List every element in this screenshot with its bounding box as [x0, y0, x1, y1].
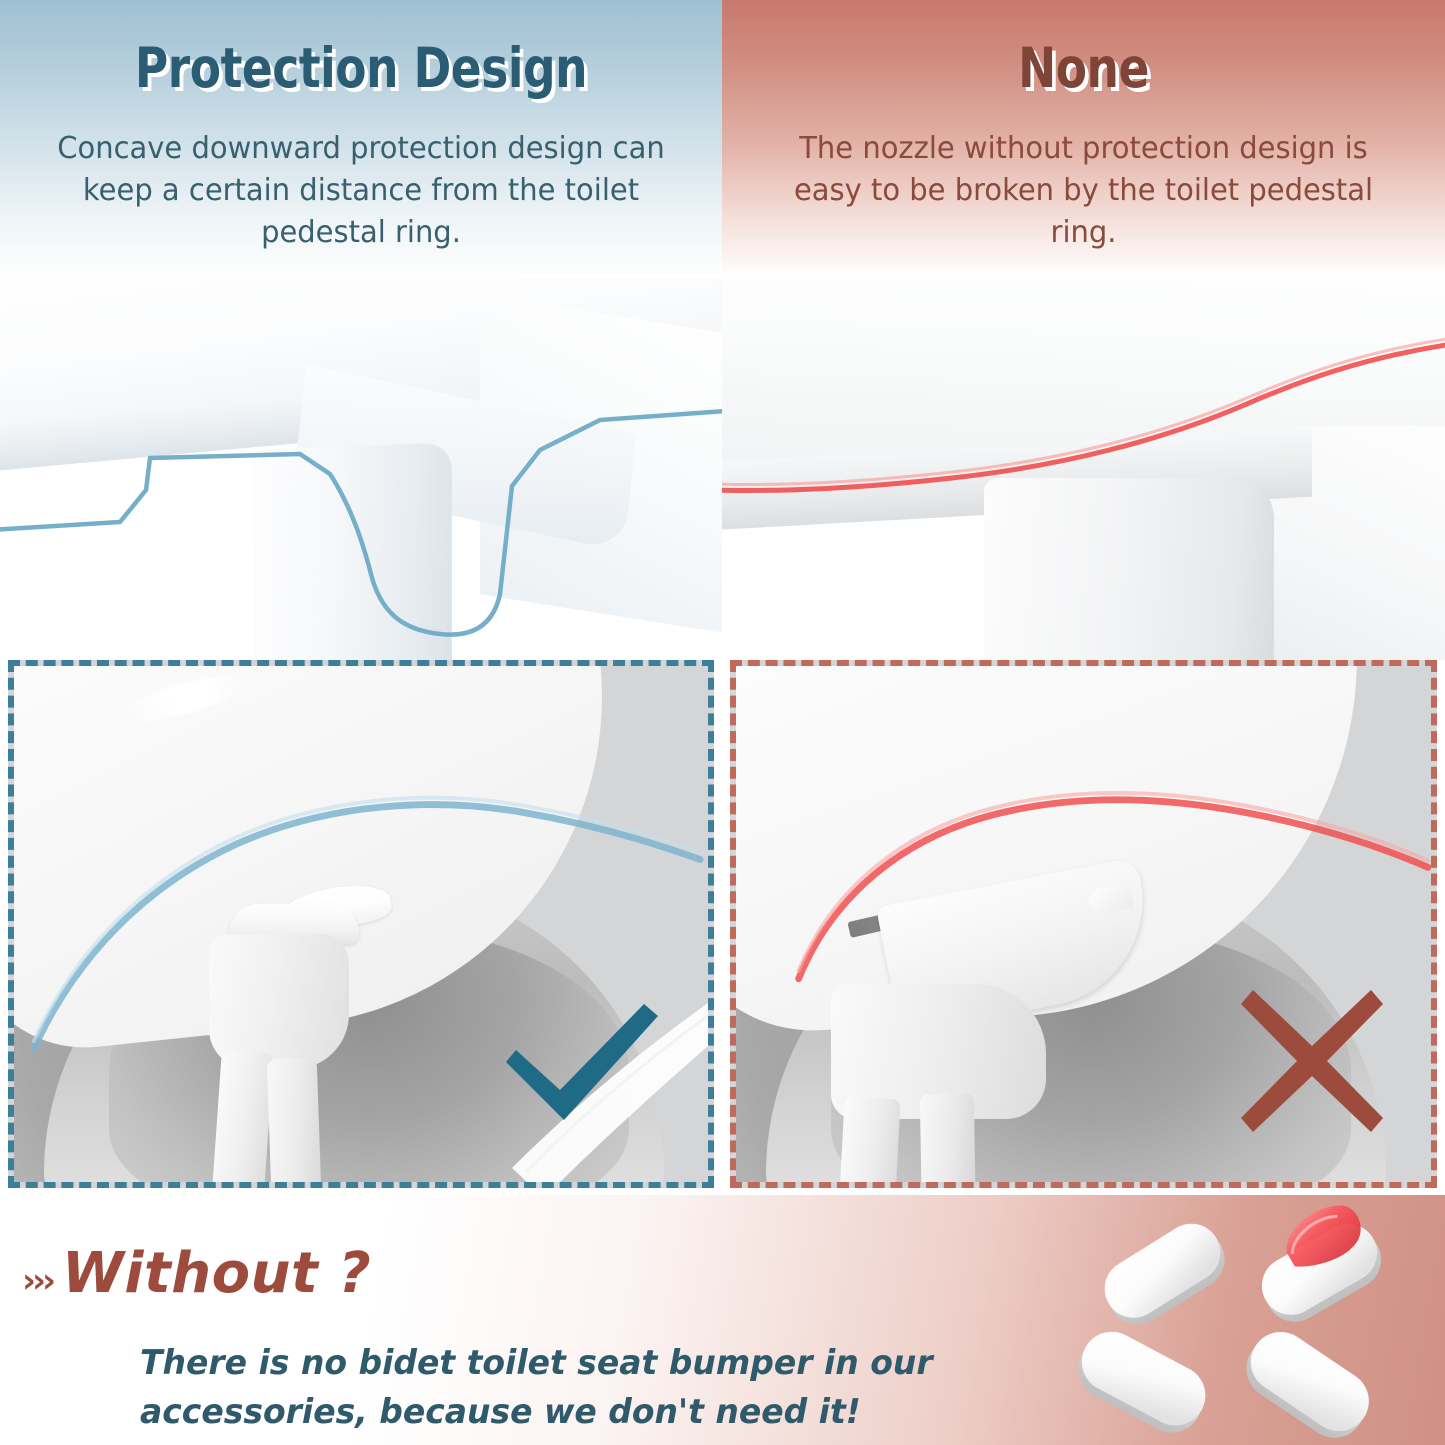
left-product-photo: [0, 278, 722, 660]
chevrons-icon: ›››: [22, 1261, 52, 1301]
left-comparison-panel: [8, 660, 714, 1188]
left-header: Protection Design Concave downward prote…: [0, 0, 722, 278]
nozzle-arm-secondary: [920, 1094, 976, 1188]
right-comparison-panel: [730, 660, 1437, 1188]
bumper-pad-highlighted: [1240, 1205, 1392, 1332]
nozzle-arm-primary: [837, 1097, 900, 1188]
bumper-pad: [1235, 1320, 1381, 1445]
bumper-pad: [1067, 1321, 1215, 1443]
right-header: None The nozzle without protection desig…: [722, 0, 1445, 278]
footer-heading-row: ››› Without ?: [22, 1241, 371, 1306]
left-header-title: Protection Design: [29, 36, 693, 100]
comparison-row: [0, 660, 1445, 1195]
footer-title: Without ?: [62, 1241, 371, 1306]
right-product-photo: [722, 278, 1445, 660]
nozzle-arm-primary: [212, 1049, 274, 1188]
right-header-title: None: [751, 36, 1416, 100]
nozzle-arm-secondary: [267, 1057, 322, 1188]
right-header-subtitle: The nozzle without protection design is …: [740, 128, 1427, 254]
product-photo-row: [0, 278, 1445, 660]
footer-body-text: There is no bidet toilet seat bumper in …: [140, 1339, 1032, 1437]
nozzle-body: [209, 934, 349, 1069]
seat-pier: [984, 478, 1274, 660]
bumper-pad: [1094, 1213, 1236, 1336]
left-header-subtitle: Concave downward protection design can k…: [18, 128, 704, 254]
seat-pier: [254, 443, 452, 660]
footer-band: ››› Without ? There is no bidet toilet s…: [0, 1195, 1445, 1445]
header-band: Protection Design Concave downward prote…: [0, 0, 1445, 278]
infographic-page: Protection Design Concave downward prote…: [0, 0, 1445, 1445]
bumper-pads-illustration: [1049, 1205, 1439, 1445]
